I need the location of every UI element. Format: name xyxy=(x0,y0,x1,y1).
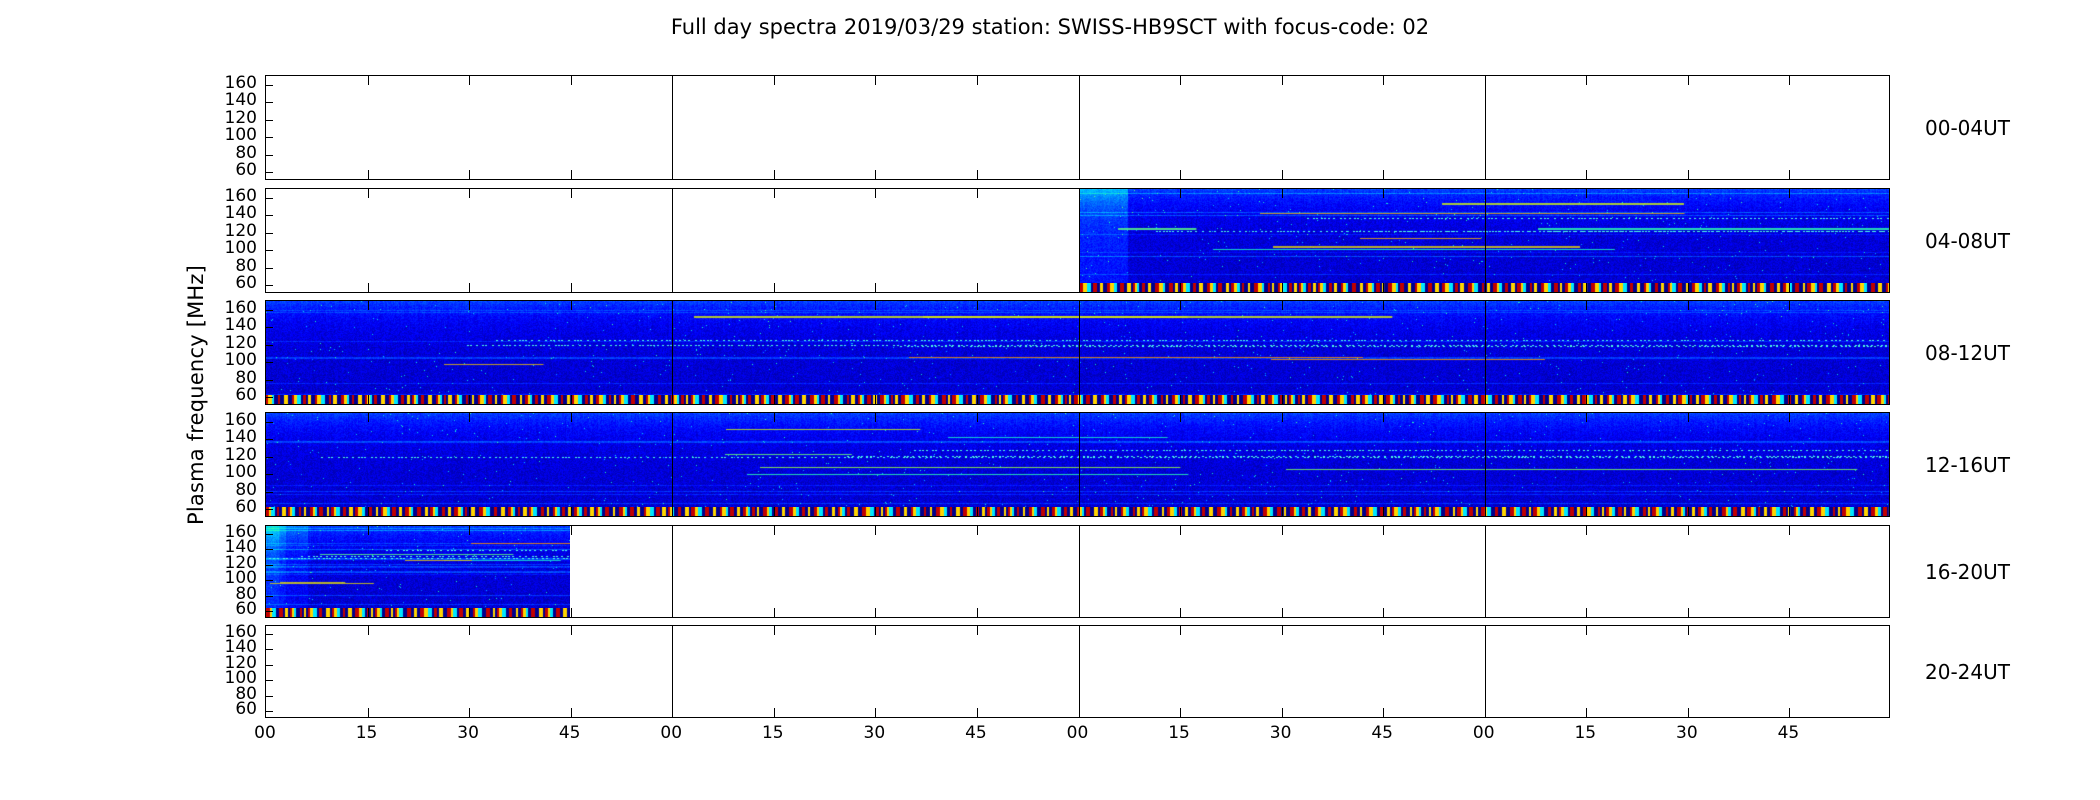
x-tick-mark-top xyxy=(774,413,775,422)
x-tick-mark-bottom xyxy=(1688,507,1689,516)
x-gridline-hour xyxy=(672,413,673,516)
y-tick-label: 100 xyxy=(195,352,257,369)
x-tick-mark-top xyxy=(1586,189,1587,198)
x-tick-mark-top xyxy=(774,76,775,85)
x-tick-mark-bottom xyxy=(469,170,470,179)
x-tick-mark-bottom xyxy=(774,507,775,516)
x-tick-mark-top xyxy=(1180,301,1181,310)
x-tick-mark-bottom xyxy=(774,395,775,404)
x-tick-mark-top xyxy=(1282,301,1283,310)
x-tick-mark-top xyxy=(774,526,775,535)
y-tick-mark xyxy=(266,492,273,493)
x-tick-mark-bottom xyxy=(1789,507,1790,516)
spectrogram-panel-00-04ut xyxy=(265,75,1890,180)
x-tick-mark-bottom xyxy=(1282,395,1283,404)
y-tick-label: 120 xyxy=(195,335,257,352)
x-gridline-hour xyxy=(1485,301,1486,404)
x-tick-mark-top xyxy=(875,301,876,310)
x-tick-mark-bottom xyxy=(977,608,978,617)
x-tick-mark-bottom xyxy=(1586,708,1587,717)
panel-time-label-00-04ut: 00-04UT xyxy=(1925,117,2095,139)
x-tick-mark-bottom xyxy=(1180,283,1181,292)
x-tick-mark-top xyxy=(977,189,978,198)
x-tick-mark-bottom xyxy=(774,283,775,292)
x-tick-mark-top xyxy=(1180,76,1181,85)
spectrogram-panel-04-08ut xyxy=(265,188,1890,293)
x-tick-mark-bottom xyxy=(1789,395,1790,404)
x-tick-mark-bottom xyxy=(1383,170,1384,179)
x-tick-mark-top xyxy=(1282,189,1283,198)
x-tick-mark-top xyxy=(1789,76,1790,85)
y-tick-label: 60 xyxy=(195,387,257,404)
x-tick-mark-bottom xyxy=(1282,507,1283,516)
x-tick-label: 00 xyxy=(1461,724,1507,743)
y-tick-mark xyxy=(266,397,273,398)
y-tick-mark xyxy=(266,596,273,597)
x-tick-mark-top xyxy=(368,413,369,422)
panel-time-label-08-12ut: 08-12UT xyxy=(1925,342,2095,364)
x-tick-mark-top xyxy=(875,526,876,535)
x-tick-mark-bottom xyxy=(368,708,369,717)
x-tick-mark-top xyxy=(1282,626,1283,635)
x-tick-mark-bottom xyxy=(1586,395,1587,404)
y-tick-mark xyxy=(266,565,273,566)
spectrogram-bottom-marker-strip xyxy=(266,608,570,617)
x-tick-mark-bottom xyxy=(1789,170,1790,179)
x-tick-mark-bottom xyxy=(1180,708,1181,717)
x-tick-mark-bottom xyxy=(1789,608,1790,617)
x-tick-label: 00 xyxy=(242,724,288,743)
y-tick-mark xyxy=(266,102,273,103)
x-tick-mark-bottom xyxy=(1383,608,1384,617)
spectrogram-texture xyxy=(266,526,570,617)
y-tick-mark xyxy=(266,649,273,650)
y-tick-mark xyxy=(266,634,273,635)
spectrogram-panel-12-16ut xyxy=(265,412,1890,517)
x-tick-mark-bottom xyxy=(571,708,572,717)
y-tick-label: 160 xyxy=(195,188,257,205)
x-tick-mark-top xyxy=(1586,413,1587,422)
x-tick-mark-top xyxy=(1688,301,1689,310)
x-gridline-hour xyxy=(672,301,673,404)
y-tick-mark xyxy=(266,611,273,612)
x-tick-mark-bottom xyxy=(1180,170,1181,179)
x-tick-mark-bottom xyxy=(571,507,572,516)
x-tick-mark-bottom xyxy=(977,507,978,516)
x-tick-mark-top xyxy=(1282,413,1283,422)
x-gridline-hour xyxy=(672,526,673,617)
x-tick-mark-bottom xyxy=(875,507,876,516)
y-tick-label: 140 xyxy=(195,317,257,334)
x-tick-mark-bottom xyxy=(469,708,470,717)
panel-time-label-04-08ut: 04-08UT xyxy=(1925,230,2095,252)
x-tick-mark-top xyxy=(1789,526,1790,535)
y-tick-mark xyxy=(266,665,273,666)
x-tick-mark-top xyxy=(1688,76,1689,85)
x-gridline-hour xyxy=(1079,189,1080,292)
x-tick-label: 15 xyxy=(1562,724,1608,743)
y-tick-label: 120 xyxy=(195,447,257,464)
x-tick-mark-bottom xyxy=(774,708,775,717)
x-gridline-hour xyxy=(1079,301,1080,404)
x-tick-mark-top xyxy=(469,413,470,422)
x-tick-mark-bottom xyxy=(977,395,978,404)
x-tick-mark-top xyxy=(571,626,572,635)
y-tick-label: 80 xyxy=(195,482,257,499)
x-gridline-hour xyxy=(672,626,673,717)
x-tick-label: 15 xyxy=(344,724,390,743)
x-gridline-hour xyxy=(1485,76,1486,179)
x-tick-mark-bottom xyxy=(875,283,876,292)
y-tick-mark xyxy=(266,137,273,138)
x-tick-mark-bottom xyxy=(1688,608,1689,617)
x-tick-label: 30 xyxy=(1258,724,1304,743)
y-tick-mark xyxy=(266,233,273,234)
x-tick-mark-bottom xyxy=(875,608,876,617)
x-tick-mark-top xyxy=(977,413,978,422)
x-tick-mark-bottom xyxy=(571,170,572,179)
x-tick-label: 30 xyxy=(851,724,897,743)
x-tick-mark-top xyxy=(875,76,876,85)
x-tick-mark-top xyxy=(1180,189,1181,198)
x-tick-mark-bottom xyxy=(1688,283,1689,292)
x-tick-label: 15 xyxy=(750,724,796,743)
y-tick-mark xyxy=(266,345,273,346)
x-tick-mark-top xyxy=(774,626,775,635)
x-tick-mark-bottom xyxy=(1282,708,1283,717)
y-tick-mark xyxy=(266,509,273,510)
y-tick-label: 60 xyxy=(195,162,257,179)
x-tick-label: 45 xyxy=(547,724,593,743)
y-tick-mark xyxy=(266,215,273,216)
x-tick-mark-top xyxy=(774,301,775,310)
x-tick-mark-bottom xyxy=(1282,283,1283,292)
x-tick-mark-top xyxy=(1282,76,1283,85)
x-tick-mark-top xyxy=(571,526,572,535)
y-tick-mark xyxy=(266,439,273,440)
y-tick-label: 140 xyxy=(195,205,257,222)
x-tick-mark-top xyxy=(571,76,572,85)
x-tick-mark-bottom xyxy=(875,395,876,404)
x-tick-mark-top xyxy=(1383,413,1384,422)
y-tick-mark xyxy=(266,534,273,535)
marker-strip-texture xyxy=(266,608,570,617)
x-tick-mark-top xyxy=(571,301,572,310)
y-tick-mark xyxy=(266,310,273,311)
spectrogram-panel-16-20ut xyxy=(265,525,1890,618)
y-tick-label: 60 xyxy=(195,601,257,618)
x-tick-mark-top xyxy=(977,301,978,310)
x-tick-label: 45 xyxy=(953,724,999,743)
x-tick-mark-top xyxy=(1586,301,1587,310)
x-tick-mark-bottom xyxy=(571,395,572,404)
x-tick-mark-bottom xyxy=(571,283,572,292)
y-tick-mark xyxy=(266,696,273,697)
x-gridline-hour xyxy=(1079,626,1080,717)
y-tick-mark xyxy=(266,680,273,681)
x-tick-mark-bottom xyxy=(368,608,369,617)
x-tick-mark-top xyxy=(469,526,470,535)
y-tick-label: 120 xyxy=(195,110,257,127)
panel-time-label-20-24ut: 20-24UT xyxy=(1925,661,2095,683)
x-tick-mark-top xyxy=(1383,76,1384,85)
spectrogram-panel-08-12ut xyxy=(265,300,1890,405)
y-tick-label: 100 xyxy=(195,127,257,144)
x-tick-mark-top xyxy=(1180,413,1181,422)
x-tick-mark-top xyxy=(1282,526,1283,535)
x-tick-mark-bottom xyxy=(1282,608,1283,617)
x-tick-label: 30 xyxy=(1664,724,1710,743)
x-tick-label: 45 xyxy=(1359,724,1405,743)
x-tick-mark-bottom xyxy=(1180,608,1181,617)
x-tick-mark-top xyxy=(469,76,470,85)
x-tick-mark-top xyxy=(368,626,369,635)
x-tick-mark-bottom xyxy=(469,395,470,404)
page-title: Full day spectra 2019/03/29 station: SWI… xyxy=(0,14,2100,40)
y-tick-label: 60 xyxy=(195,701,257,718)
x-tick-mark-bottom xyxy=(1586,170,1587,179)
x-tick-mark-top xyxy=(571,413,572,422)
panel-time-label-12-16ut: 12-16UT xyxy=(1925,454,2095,476)
y-tick-mark xyxy=(266,380,273,381)
y-tick-label: 80 xyxy=(195,145,257,162)
x-tick-mark-top xyxy=(977,76,978,85)
x-tick-mark-top xyxy=(1688,189,1689,198)
x-tick-mark-top xyxy=(1789,301,1790,310)
x-tick-mark-bottom xyxy=(1688,395,1689,404)
x-tick-mark-bottom xyxy=(469,608,470,617)
x-gridline-hour xyxy=(1485,526,1486,617)
y-tick-label: 80 xyxy=(195,258,257,275)
y-tick-mark xyxy=(266,362,273,363)
y-tick-label: 60 xyxy=(195,275,257,292)
x-tick-mark-bottom xyxy=(1383,507,1384,516)
x-gridline-hour xyxy=(1079,413,1080,516)
x-tick-mark-bottom xyxy=(875,170,876,179)
y-tick-mark xyxy=(266,250,273,251)
x-tick-mark-bottom xyxy=(875,708,876,717)
x-tick-mark-top xyxy=(1383,526,1384,535)
x-tick-mark-top xyxy=(875,413,876,422)
x-tick-mark-top xyxy=(368,526,369,535)
y-tick-mark xyxy=(266,155,273,156)
x-gridline-hour xyxy=(1485,413,1486,516)
y-tick-mark xyxy=(266,268,273,269)
x-tick-mark-bottom xyxy=(368,507,369,516)
y-tick-mark xyxy=(266,85,273,86)
x-tick-mark-top xyxy=(774,189,775,198)
x-tick-label: 15 xyxy=(1156,724,1202,743)
y-tick-mark xyxy=(266,120,273,121)
x-tick-mark-top xyxy=(1383,626,1384,635)
spectrogram-data-16-20ut xyxy=(266,526,570,617)
x-tick-mark-bottom xyxy=(368,283,369,292)
x-tick-mark-bottom xyxy=(1383,283,1384,292)
x-tick-mark-bottom xyxy=(977,170,978,179)
x-tick-mark-top xyxy=(1789,189,1790,198)
x-tick-mark-bottom xyxy=(469,507,470,516)
x-tick-mark-top xyxy=(1383,301,1384,310)
y-tick-label: 100 xyxy=(195,464,257,481)
y-tick-label: 160 xyxy=(195,300,257,317)
x-tick-mark-top xyxy=(469,189,470,198)
y-tick-mark xyxy=(266,172,273,173)
y-tick-label: 60 xyxy=(195,499,257,516)
x-tick-mark-top xyxy=(1586,526,1587,535)
x-tick-mark-top xyxy=(977,626,978,635)
x-tick-mark-top xyxy=(977,526,978,535)
x-axis-tick-labels: 00153045001530450015304500153045 xyxy=(265,724,1890,748)
y-tick-label: 100 xyxy=(195,240,257,257)
y-tick-label: 120 xyxy=(195,223,257,240)
x-tick-label: 30 xyxy=(445,724,491,743)
x-tick-mark-bottom xyxy=(774,608,775,617)
x-tick-mark-bottom xyxy=(977,708,978,717)
x-tick-mark-bottom xyxy=(1789,708,1790,717)
x-tick-mark-bottom xyxy=(1586,283,1587,292)
x-tick-mark-top xyxy=(1789,413,1790,422)
x-tick-mark-top xyxy=(1789,626,1790,635)
y-tick-mark xyxy=(266,580,273,581)
x-tick-mark-bottom xyxy=(571,608,572,617)
x-tick-mark-bottom xyxy=(1789,283,1790,292)
y-tick-mark xyxy=(266,549,273,550)
spectrogram-figure: Full day spectra 2019/03/29 station: SWI… xyxy=(0,0,2100,800)
y-tick-label: 140 xyxy=(195,92,257,109)
x-tick-mark-bottom xyxy=(1383,708,1384,717)
x-gridline-hour xyxy=(672,76,673,179)
x-gridline-hour xyxy=(1485,626,1486,717)
spectrogram-panel-20-24ut xyxy=(265,625,1890,718)
x-tick-mark-top xyxy=(1688,413,1689,422)
x-tick-mark-bottom xyxy=(368,395,369,404)
y-tick-mark xyxy=(266,711,273,712)
y-tick-mark xyxy=(266,285,273,286)
y-tick-mark xyxy=(266,422,273,423)
x-gridline-hour xyxy=(672,189,673,292)
x-tick-mark-bottom xyxy=(469,283,470,292)
x-gridline-hour xyxy=(1079,526,1080,617)
x-tick-mark-bottom xyxy=(1180,507,1181,516)
y-tick-label: 140 xyxy=(195,429,257,446)
x-tick-mark-bottom xyxy=(1383,395,1384,404)
x-tick-mark-top xyxy=(368,76,369,85)
x-tick-mark-top xyxy=(875,626,876,635)
x-tick-mark-top xyxy=(469,626,470,635)
x-tick-mark-top xyxy=(571,189,572,198)
x-tick-mark-top xyxy=(368,189,369,198)
x-tick-mark-bottom xyxy=(1180,395,1181,404)
y-tick-label: 160 xyxy=(195,412,257,429)
x-tick-mark-top xyxy=(1586,626,1587,635)
panel-time-label-16-20ut: 16-20UT xyxy=(1925,561,2095,583)
y-tick-mark xyxy=(266,198,273,199)
x-tick-mark-top xyxy=(1180,626,1181,635)
y-tick-label: 80 xyxy=(195,370,257,387)
x-tick-mark-top xyxy=(1383,189,1384,198)
x-tick-mark-top xyxy=(469,301,470,310)
y-tick-label: 160 xyxy=(195,75,257,92)
x-gridline-hour xyxy=(1079,76,1080,179)
x-tick-mark-top xyxy=(1586,76,1587,85)
x-tick-mark-bottom xyxy=(977,283,978,292)
y-tick-mark xyxy=(266,327,273,328)
x-gridline-hour xyxy=(1485,189,1486,292)
y-tick-mark xyxy=(266,474,273,475)
x-tick-mark-bottom xyxy=(1688,170,1689,179)
x-tick-mark-top xyxy=(1180,526,1181,535)
x-tick-label: 00 xyxy=(648,724,694,743)
x-tick-label: 45 xyxy=(1765,724,1811,743)
x-tick-mark-top xyxy=(875,189,876,198)
x-tick-mark-bottom xyxy=(1282,170,1283,179)
x-tick-mark-bottom xyxy=(1586,608,1587,617)
x-tick-mark-top xyxy=(1688,526,1689,535)
x-tick-mark-top xyxy=(368,301,369,310)
x-tick-mark-top xyxy=(1688,626,1689,635)
y-tick-mark xyxy=(266,457,273,458)
x-tick-mark-bottom xyxy=(1586,507,1587,516)
x-tick-mark-bottom xyxy=(774,170,775,179)
x-tick-label: 00 xyxy=(1055,724,1101,743)
x-tick-mark-bottom xyxy=(1688,708,1689,717)
x-tick-mark-bottom xyxy=(368,170,369,179)
